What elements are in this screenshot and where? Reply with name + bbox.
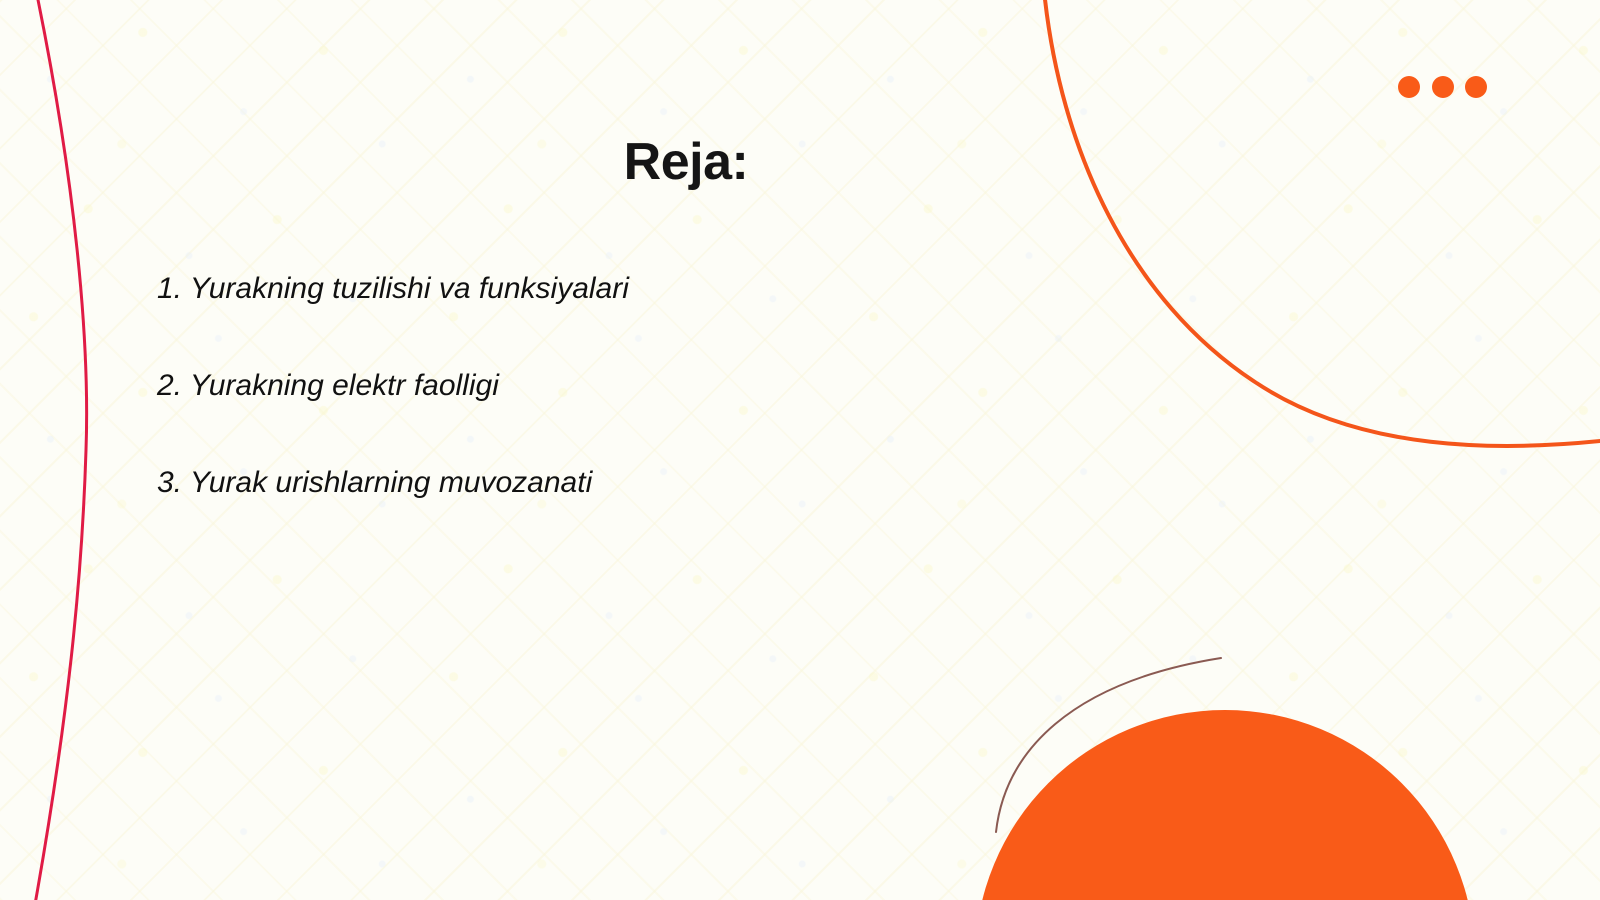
- agenda-list: 1. Yurakning tuzilishi va funksiyalari 2…: [157, 274, 1057, 510]
- page-title: Reja:: [0, 132, 1372, 192]
- list-item: 1. Yurakning tuzilishi va funksiyalari: [157, 274, 1057, 316]
- presentation-slide: Reja: 1. Yurakning tuzilishi va funksiya…: [0, 0, 1600, 900]
- list-item: 2. Yurakning elektr faolligi: [157, 371, 1057, 413]
- slide-content: Reja: 1. Yurakning tuzilishi va funksiya…: [0, 0, 1600, 900]
- list-item: 3. Yurak urishlarning muvozanati: [157, 468, 1057, 510]
